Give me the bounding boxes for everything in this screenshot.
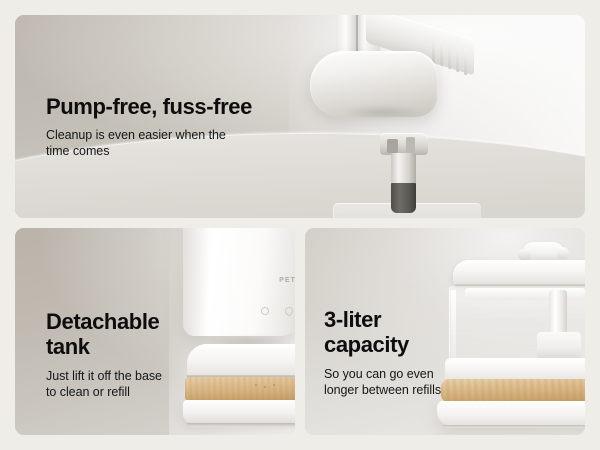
card-pump-free-copy: Pump-free, fuss-free Cleanup is even eas… — [46, 95, 266, 160]
base-lower-body — [183, 400, 295, 424]
brand-mark: PET — [279, 277, 295, 284]
inner-plate — [465, 288, 585, 300]
feature-card-pump-free[interactable]: Pump-free, fuss-free Cleanup is even eas… — [15, 15, 585, 218]
base-foot — [437, 401, 585, 427]
card-capacity-copy: 3-liter capacity So you can go even long… — [324, 308, 484, 399]
base-vent-dots — [255, 384, 283, 392]
dispenser-head — [310, 15, 490, 117]
dispenser-arm-ribs — [432, 37, 474, 77]
card-pump-free-subtitle: Cleanup is even easier when the time com… — [46, 127, 266, 160]
base-foot — [187, 423, 295, 427]
fountain-lid — [453, 260, 585, 286]
card-detachable-tank-title: Detachable tank — [46, 310, 221, 360]
dispenser-dome-shadow — [326, 103, 438, 121]
control-icons — [255, 306, 295, 318]
feature-card-three-liter-capacity[interactable]: 3-liter capacity So you can go even long… — [305, 228, 585, 435]
pump-body — [391, 153, 416, 185]
water-drop-icon — [283, 305, 294, 316]
pump-clip — [380, 133, 428, 155]
base-foot-line — [443, 425, 585, 428]
card-detachable-tank-copy: Detachable tank Just lift it off the bas… — [46, 310, 221, 401]
inner-column-base — [537, 332, 581, 358]
card-pump-free-title: Pump-free, fuss-free — [46, 95, 266, 120]
feature-card-detachable-tank[interactable]: PET Detachable tank Just lift it off the… — [15, 228, 295, 435]
power-icon — [261, 307, 269, 315]
card-capacity-subtitle: So you can go even longer between refill… — [324, 366, 484, 399]
feature-cards-page: Pump-free, fuss-free Cleanup is even eas… — [0, 0, 600, 450]
bottom-card-row: PET Detachable tank Just lift it off the… — [15, 228, 585, 435]
card-capacity-title: 3-liter capacity — [324, 308, 484, 358]
card-detachable-tank-subtitle: Just lift it off the base to clean or re… — [46, 368, 221, 401]
pump-cartridge — [380, 133, 428, 215]
pump-motor — [391, 183, 416, 213]
